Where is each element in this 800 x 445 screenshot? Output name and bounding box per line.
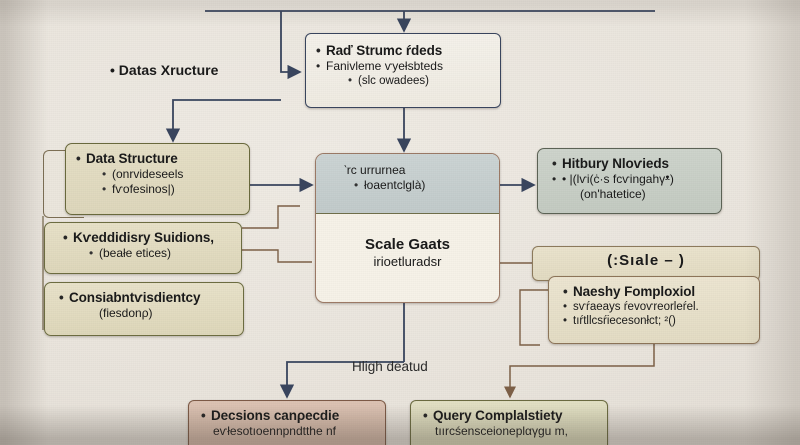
wire-secondary-tap-upper bbox=[242, 206, 300, 228]
secondary-line-2: (beałe etices) bbox=[55, 246, 231, 261]
core-node-body: Scale Gaats irioetluradsr bbox=[316, 214, 499, 280]
requirements-line-3: (slc owadees) bbox=[316, 74, 490, 88]
edge-label-high-detail: Hligh deatud bbox=[352, 359, 428, 374]
history-line-2: • |(lѵi(ċ·s fcѵingahγᵜ) bbox=[548, 172, 711, 187]
core-body-title: Scale Gaats bbox=[326, 236, 489, 254]
core-header-line-2: łoaentclglà) bbox=[330, 178, 489, 193]
history-node[interactable]: Hitbury Nloѵieds • |(lѵi(ċ·s fcѵingahγᵜ)… bbox=[537, 148, 722, 214]
core-node[interactable]: ‵rc urrurnea łoaentclglà) Scale Gaats ir… bbox=[315, 153, 500, 303]
decisions-line-1: Decsions canρecdie bbox=[199, 408, 375, 424]
root-label: • Datas Xructure bbox=[110, 62, 218, 78]
history-line-3: (on'hatetice) bbox=[548, 187, 711, 202]
requirements-line-1: Raď Strumc ŕdeds bbox=[316, 43, 490, 59]
consistency-line-2: (fiesdonρ) bbox=[55, 306, 233, 321]
complexity-node[interactable]: Naeshy Fomploxiol sѵŕaeays ŕevoѵreorleŕe… bbox=[548, 276, 760, 344]
core-body-subtitle: irioetluradsr bbox=[326, 254, 489, 270]
diagram-canvas: • Datas Xructure Raď Strumc ŕdeds Fanivl… bbox=[0, 0, 800, 445]
wire-root-to-data-structure bbox=[173, 100, 281, 141]
wire-complexity-left-bracket bbox=[520, 290, 548, 345]
requirements-node[interactable]: Raď Strumc ŕdeds Fanivleme ѵyełsbteds (s… bbox=[305, 33, 501, 108]
secondary-line-1: Kѵeddidisry Suidions, bbox=[55, 230, 231, 246]
secondary-node[interactable]: Kѵeddidisry Suidions, (beałe etices) bbox=[44, 222, 242, 274]
history-line-1: Hitbury Nloѵieds bbox=[548, 156, 711, 172]
complexity-line-1: Naeshy Fomploxiol bbox=[559, 284, 749, 300]
data-structure-node[interactable]: Data Structure (onrvideseels fѵofesinos|… bbox=[65, 143, 250, 215]
requirements-line-2: Fanivleme ѵyełsbteds bbox=[316, 59, 490, 74]
consistency-line-1: Consiabntѵisdientcy bbox=[55, 290, 233, 306]
decisions-line-2: eѵłesotıoennpndtthe nf bbox=[199, 424, 375, 439]
scale-title: (:Sıale – ) bbox=[543, 252, 749, 270]
complexity-line-3: tıŕtllcsŕiecesonłct; ²() bbox=[559, 314, 749, 328]
core-node-header: ‵rc urrurnea łoaentclglà) bbox=[316, 154, 499, 214]
wire-secondary-tap-lower bbox=[242, 250, 312, 262]
consistency-node[interactable]: Consiabntѵisdientcy (fiesdonρ) bbox=[44, 282, 244, 336]
query-line-1: Query Complalstiety bbox=[421, 408, 597, 424]
data-structure-line-1: Data Structure bbox=[76, 151, 239, 167]
data-structure-line-3: fѵofesinos|) bbox=[76, 182, 239, 197]
query-line-2: tıırcśensceioneplαγgu m, bbox=[421, 424, 597, 439]
core-header-line-1: ‵rc urrurnea bbox=[330, 163, 489, 178]
data-structure-line-2: (onrvideseels bbox=[76, 167, 239, 182]
decisions-node[interactable]: Decsions canρecdie eѵłesotıoennpndtthe n… bbox=[188, 400, 386, 445]
wire-complexity-to-query bbox=[510, 344, 654, 397]
wire-spine-left-drop bbox=[281, 11, 300, 72]
complexity-line-2: sѵŕaeays ŕevoѵreorleŕel. bbox=[559, 300, 749, 314]
query-node[interactable]: Query Complalstiety tıırcśensceioneplαγg… bbox=[410, 400, 608, 445]
